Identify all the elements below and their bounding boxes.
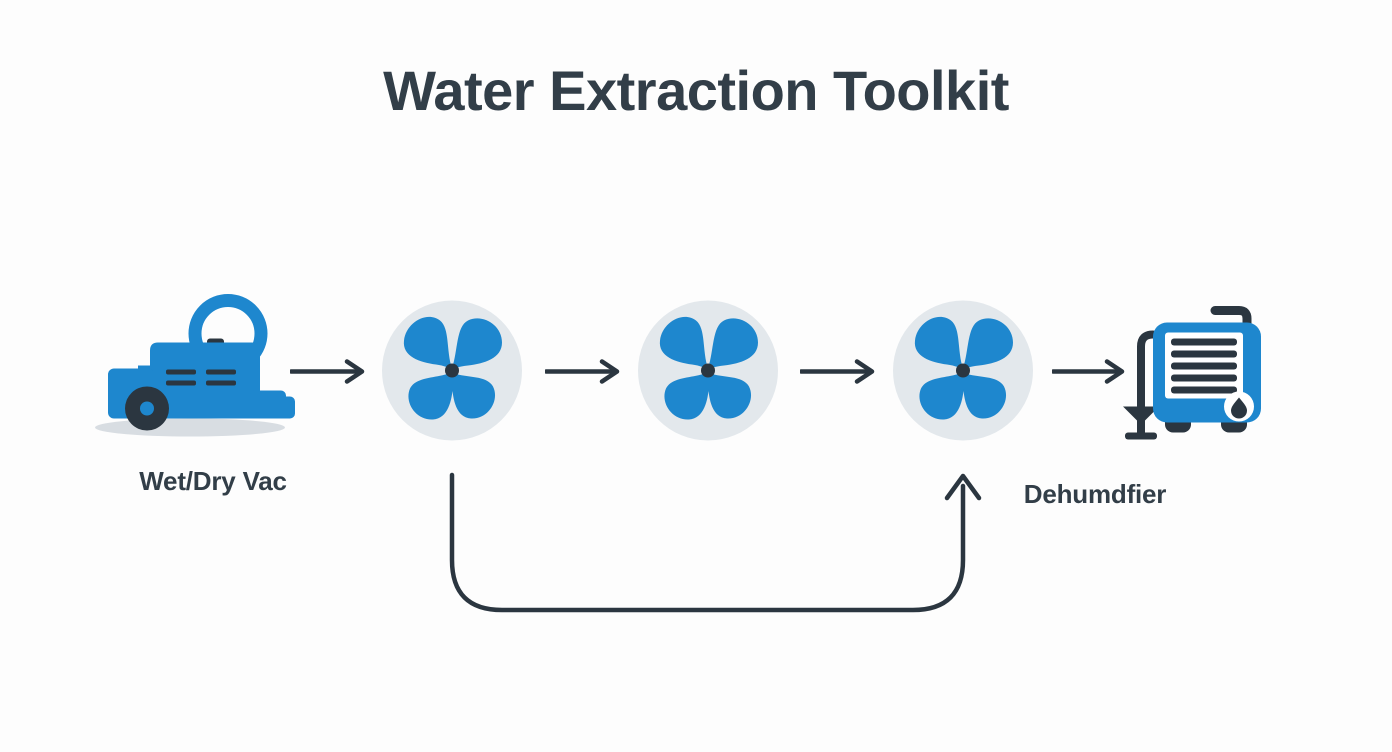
- fan-hub: [445, 364, 459, 378]
- vacuum-vent-slat: [206, 381, 236, 386]
- fan-hub: [956, 364, 970, 378]
- dehumidifier-grille-slat: [1171, 339, 1237, 346]
- vacuum-vent-slat: [166, 370, 196, 375]
- dehumidifier-hose: [1141, 335, 1153, 413]
- feedback-loop-arrow: [452, 475, 979, 610]
- node-air-mover-3[interactable]: [891, 299, 1035, 448]
- fan-icon: [380, 299, 524, 443]
- dehumidifier-grille-slat: [1171, 351, 1237, 358]
- arrow-right-icon: [800, 358, 880, 386]
- dehumidifier-icon: [1113, 295, 1283, 447]
- arrow-2: [545, 358, 625, 391]
- arrow-3: [800, 358, 880, 391]
- node-air-mover-1[interactable]: [380, 299, 524, 448]
- node-air-mover-2[interactable]: [636, 299, 780, 448]
- vacuum-vent-slat: [206, 370, 236, 375]
- node-dehumidifier[interactable]: [1113, 295, 1283, 452]
- dehumidifier-plug-base: [1125, 433, 1157, 440]
- dehumidifier-grille-slat: [1171, 387, 1237, 394]
- vacuum-wheel-hub: [140, 402, 154, 416]
- wet-dry-vacuum-icon: [90, 291, 300, 451]
- arrow-1: [290, 358, 370, 391]
- fan-hub: [701, 364, 715, 378]
- arrow-right-icon: [1052, 358, 1130, 386]
- arrow-right-icon: [290, 358, 370, 386]
- vacuum-nozzle-tip: [273, 397, 295, 419]
- fan-icon: [891, 299, 1035, 443]
- node-wet-dry-vac[interactable]: [90, 291, 300, 456]
- arrow-right-icon: [545, 358, 625, 386]
- node-label-wet-dry-vac: Wet/Dry Vac: [139, 466, 287, 497]
- dehumidifier-grille-slat: [1171, 363, 1237, 370]
- node-label-dehumidifier: Dehumdfier: [1024, 479, 1166, 510]
- dehumidifier-grille-slat: [1171, 375, 1237, 382]
- vacuum-vent-slat: [166, 381, 196, 386]
- vacuum-shadow: [95, 419, 285, 437]
- fan-icon: [636, 299, 780, 443]
- arrow-4: [1052, 358, 1130, 391]
- diagram-canvas: Water Extraction Toolkit: [0, 0, 1392, 752]
